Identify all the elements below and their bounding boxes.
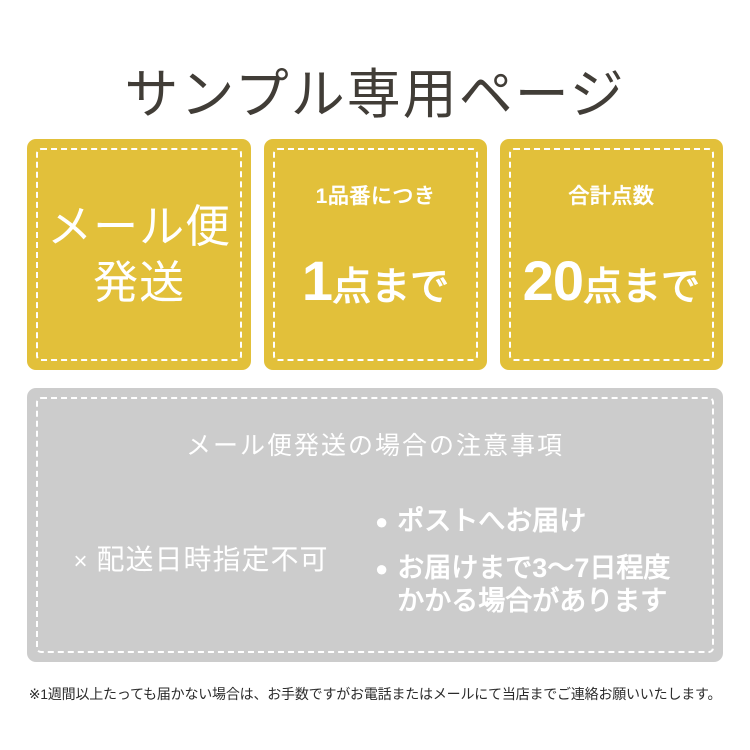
per-item-limit-value: 1点まで — [264, 252, 486, 325]
sample-page-banner: サンプル専用ページ メール便 発送 1品番につき 1点まで 合計点数 — [0, 0, 750, 750]
footer-note: ※1週間以上たっても届かない場合は、お手数ですがお電話またはメールにて当店までご… — [0, 684, 750, 704]
notice-panel-body: ×配送日時指定不可 ● ポストへお届け ● お届けまで3〜7日程度 かかる場合が… — [27, 486, 723, 636]
feature-box-row: メール便 発送 1品番につき 1点まで 合計点数 20点まで — [27, 139, 723, 370]
cross-mark-icon: × — [73, 544, 88, 580]
bullet-text-delivery-time-line-2: かかる場合があります — [397, 585, 670, 618]
bullet-dot-icon: ● — [375, 505, 388, 538]
bullet-dot-icon: ● — [375, 552, 388, 585]
notice-bullet-list: ● ポストへお届け ● お届けまで3〜7日程度 かかる場合があります — [375, 505, 723, 618]
total-limit-value: 20点まで — [500, 252, 723, 325]
feature-box-per-item-limit: 1品番につき 1点まで — [264, 139, 486, 370]
notice-panel-title: メール便発送の場合の注意事項 — [27, 430, 723, 462]
shipping-method-line-1: メール便 — [27, 199, 251, 255]
feature-box-total-limit: 合計点数 20点まで — [500, 139, 723, 370]
total-limit-unit: 点まで — [583, 266, 700, 309]
bullet-text-delivery-time-line-1: お届けまで3〜7日程度 — [397, 552, 670, 585]
bullet-text-delivery-time: お届けまで3〜7日程度 かかる場合があります — [397, 552, 670, 618]
notice-restriction: ×配送日時指定不可 — [27, 542, 375, 580]
per-item-limit-number: 1 — [302, 249, 332, 312]
notice-panel: メール便発送の場合の注意事項 ×配送日時指定不可 ● ポストへお届け ● お届け… — [27, 388, 723, 662]
bullet-text-delivery-location: ポストへお届け — [397, 505, 586, 538]
total-limit-caption: 合計点数 — [500, 184, 723, 210]
list-item: ● お届けまで3〜7日程度 かかる場合があります — [375, 552, 723, 618]
list-item: ● ポストへお届け — [375, 505, 723, 538]
per-item-limit-unit: 点まで — [332, 266, 449, 309]
notice-restriction-text: 配送日時指定不可 — [97, 544, 329, 575]
total-limit-number: 20 — [523, 249, 583, 312]
shipping-method-line-2: 発送 — [27, 255, 251, 311]
per-item-limit-caption: 1品番につき — [264, 184, 486, 210]
page-title: サンプル専用ページ — [0, 62, 750, 128]
feature-box-shipping-method: メール便 発送 — [27, 139, 251, 370]
